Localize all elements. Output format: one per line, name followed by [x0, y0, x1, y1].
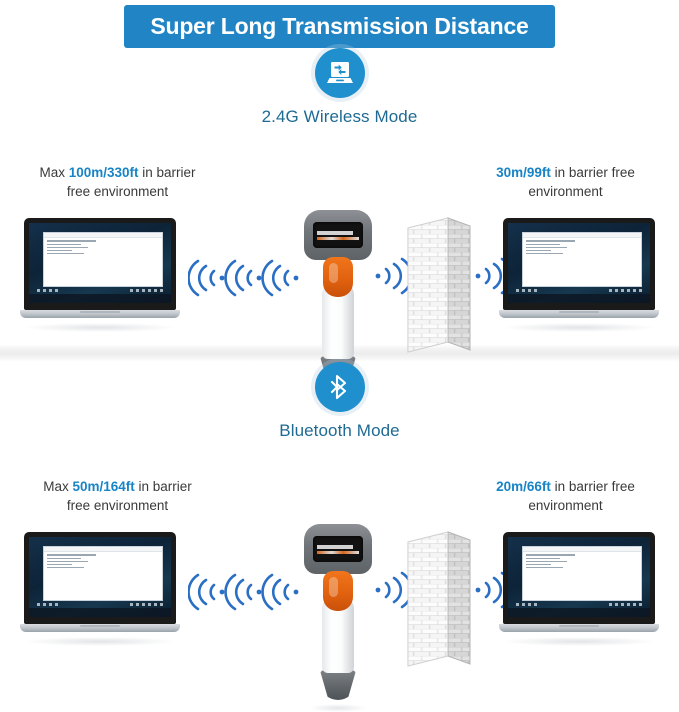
taskbar-left-icons: [37, 287, 58, 294]
laptop-window: [522, 232, 642, 287]
laptop-base: [20, 624, 180, 632]
scanner-base: [320, 670, 356, 700]
scanner-display: [313, 536, 363, 562]
laptop-base: [499, 624, 659, 632]
distance-prefix: Max: [43, 479, 72, 494]
scanner-shadow: [310, 704, 366, 712]
laptop-lid: [24, 218, 176, 310]
distance-line2: environment: [458, 183, 673, 201]
laptop-screen: [508, 537, 650, 617]
distance-value: 50m/164ft: [72, 479, 134, 494]
laptop-base: [20, 310, 180, 318]
distance-value: 30m/99ft: [496, 165, 551, 180]
laptop-lid: [24, 532, 176, 624]
taskbar-right-icons: [130, 287, 163, 294]
taskbar-left-icons: [516, 287, 537, 294]
header: Super Long Transmission Distance: [0, 0, 679, 48]
signal-waves-left-wireless: [188, 256, 300, 300]
laptop-lid: [503, 218, 655, 310]
scanner-head: [304, 210, 372, 260]
distance-line2: free environment: [10, 183, 225, 201]
distance-suffix: in barrier: [139, 165, 196, 180]
scanner-display: [313, 222, 363, 248]
taskbar-right-icons: [609, 601, 642, 608]
taskbar-left-icons: [37, 601, 58, 608]
laptop-shadow: [25, 637, 175, 646]
laptop-base: [499, 310, 659, 318]
laptop-window: [43, 232, 163, 287]
distance-suffix: in barrier free: [551, 165, 635, 180]
distance-text-left-wireless: Max 100m/330ft in barrier free environme…: [10, 164, 225, 200]
section-bluetooth: Bluetooth Mode Max 50m/164ft in barrier …: [0, 362, 679, 662]
laptop-right-wireless: [499, 218, 659, 332]
brick-wall-obstacle-bluetooth: [406, 530, 476, 678]
mode-header-wireless: 2.4G Wireless Mode: [0, 48, 679, 127]
section-wireless-24g: 2.4G Wireless Mode Max 100m/330ft in bar…: [0, 48, 679, 344]
laptop-left-bluetooth: [20, 532, 180, 646]
bluetooth-icon: [315, 362, 365, 412]
laptop-right-bluetooth: [499, 532, 659, 646]
laptop-window: [43, 546, 163, 601]
wireless-transfer-icon: [315, 48, 365, 98]
signal-waves-left-bluetooth: [188, 570, 300, 614]
distance-value: 100m/330ft: [69, 165, 139, 180]
distance-text-left-bluetooth: Max 50m/164ft in barrier free environmen…: [10, 478, 225, 514]
mode-label-wireless: 2.4G Wireless Mode: [262, 107, 418, 127]
laptop-shadow: [25, 323, 175, 332]
distance-suffix: in barrier: [135, 479, 192, 494]
distance-value: 20m/66ft: [496, 479, 551, 494]
brick-wall-obstacle-wireless: [406, 216, 476, 364]
distance-line2: free environment: [10, 497, 225, 515]
scanner-trigger[interactable]: [323, 571, 353, 611]
barcode-scanner-bluetooth: [301, 524, 375, 712]
laptop-screen: [508, 223, 650, 303]
laptop-shadow: [504, 323, 654, 332]
taskbar-right-icons: [609, 287, 642, 294]
page-title: Super Long Transmission Distance: [124, 5, 554, 48]
distance-text-right-bluetooth: 20m/66ft in barrier free environment: [458, 478, 673, 514]
distance-text-right-wireless: 30m/99ft in barrier free environment: [458, 164, 673, 200]
distance-prefix: Max: [39, 165, 68, 180]
window-text-lines: [44, 552, 162, 571]
scanner-head: [304, 524, 372, 574]
window-text-lines: [44, 238, 162, 257]
laptop-screen: [29, 537, 171, 617]
laptop-screen: [29, 223, 171, 303]
mode-header-bluetooth: Bluetooth Mode: [0, 362, 679, 441]
distance-line2: environment: [458, 497, 673, 515]
taskbar-right-icons: [130, 601, 163, 608]
window-text-lines: [523, 552, 641, 571]
mode-label-bluetooth: Bluetooth Mode: [279, 421, 399, 441]
distance-suffix: in barrier free: [551, 479, 635, 494]
laptop-left-wireless: [20, 218, 180, 332]
laptop-window: [522, 546, 642, 601]
laptop-shadow: [504, 637, 654, 646]
taskbar-left-icons: [516, 601, 537, 608]
laptop-lid: [503, 532, 655, 624]
window-text-lines: [523, 238, 641, 257]
scanner-trigger[interactable]: [323, 257, 353, 297]
